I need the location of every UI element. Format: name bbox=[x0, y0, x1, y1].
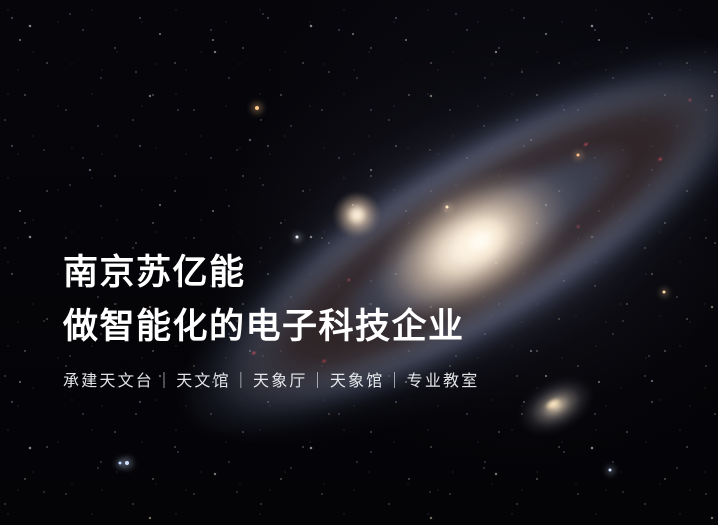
subtitle-separator: ｜ bbox=[231, 371, 253, 391]
hero-headline-line1: 南京苏亿能 bbox=[63, 249, 663, 297]
subtitle-item: 天文馆 bbox=[176, 371, 231, 390]
subtitle-item: 承建天文台 bbox=[63, 371, 154, 390]
subtitle-separator: ｜ bbox=[308, 371, 330, 391]
hero-subtitle: 承建天文台｜天文馆｜天象厅｜天象馆｜专业教室 bbox=[63, 371, 663, 391]
subtitle-item: 天象厅 bbox=[253, 371, 308, 390]
subtitle-separator: ｜ bbox=[384, 371, 406, 391]
hero-copy-block: 南京苏亿能 做智能化的电子科技企业 承建天文台｜天文馆｜天象厅｜天象馆｜专业教室 bbox=[63, 249, 663, 391]
subtitle-separator: ｜ bbox=[154, 371, 176, 391]
subtitle-item: 专业教室 bbox=[407, 371, 480, 390]
hero-headline-line2: 做智能化的电子科技企业 bbox=[63, 303, 663, 351]
subtitle-item: 天象馆 bbox=[330, 371, 385, 390]
hero-banner: 南京苏亿能 做智能化的电子科技企业 承建天文台｜天文馆｜天象厅｜天象馆｜专业教室 bbox=[0, 0, 718, 525]
